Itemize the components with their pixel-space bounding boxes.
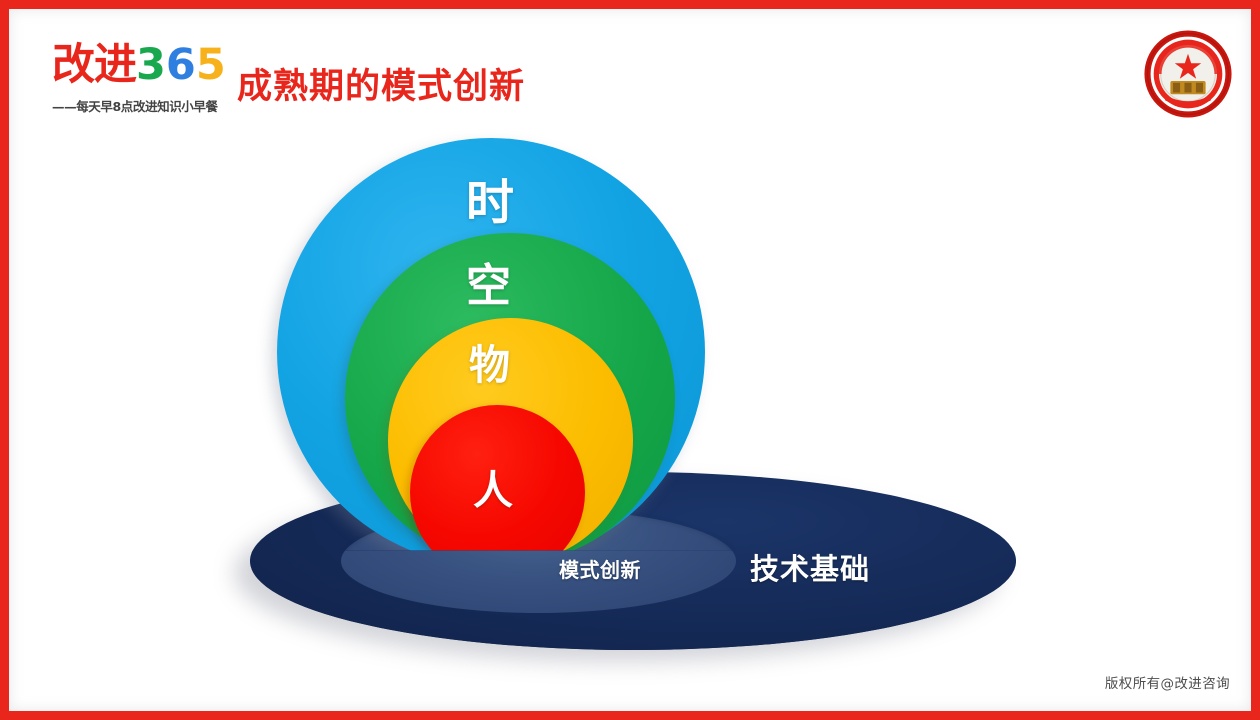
brand-tagline: ——每天早8点改进知识小早餐 xyxy=(52,96,226,115)
ellipse-label-technology-base: 技术基础 xyxy=(750,546,870,588)
ellipse-label-model-innovation: 模式创新 xyxy=(559,554,641,583)
brand-digit-3: 3 xyxy=(136,40,166,90)
circle-label-thing: 物 xyxy=(469,331,510,391)
page-title: 成熟期的模式创新 xyxy=(237,58,525,109)
brand-digit-6: 6 xyxy=(166,40,196,90)
brand-digit-5: 5 xyxy=(196,40,226,90)
slide-canvas: 改进365 ——每天早8点改进知识小早餐 成熟期的模式创新 xyxy=(0,0,1260,720)
brand-logo: 改进365 ——每天早8点改进知识小早餐 xyxy=(52,44,226,115)
brand-wordmark: 改进365 xyxy=(52,44,226,87)
circle-label-space: 空 xyxy=(466,249,511,314)
copyright-notice: 版权所有@改进咨询 xyxy=(1105,672,1230,692)
brand-word-cn: 改进 xyxy=(52,40,136,90)
circle-label-person: 人 xyxy=(473,458,513,516)
circle-label-time: 时 xyxy=(466,163,514,233)
organization-emblem-icon xyxy=(1144,30,1232,118)
